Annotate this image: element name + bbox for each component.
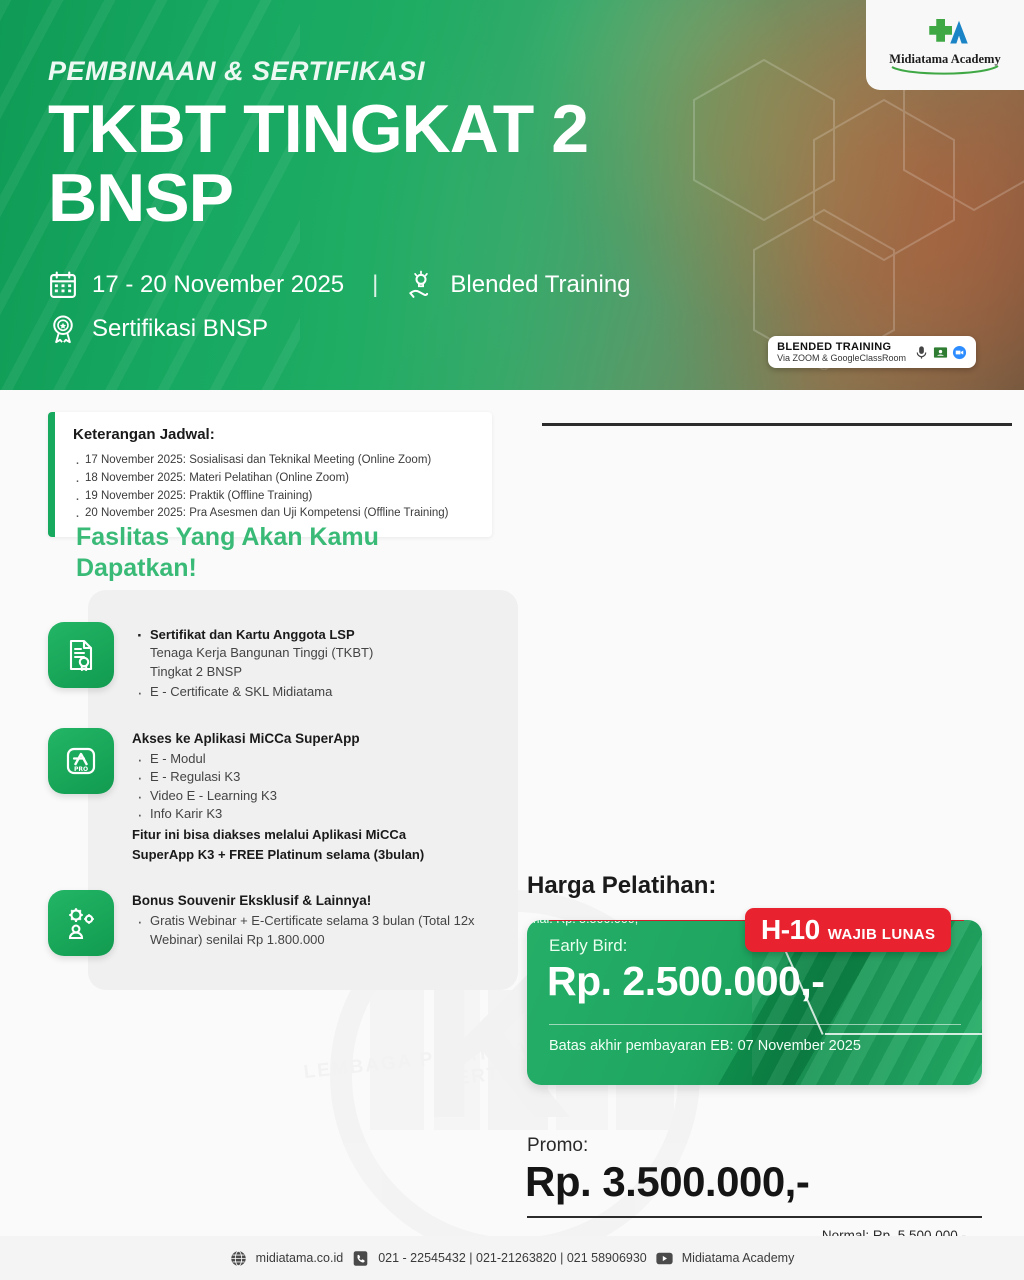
microphone-icon — [914, 345, 929, 360]
promo-label: Promo: — [527, 1135, 588, 1157]
phone-icon — [352, 1250, 369, 1267]
facility-body: Sertifikat dan Kartu Anggota LSP Tenaga … — [132, 622, 518, 702]
facility-title: Akses ke Aplikasi MiCCa SuperApp — [132, 730, 518, 748]
facility-title: Bonus Souvenir Eksklusif & Lainnya! — [132, 892, 518, 910]
badge-platform-icons — [914, 345, 967, 360]
badge-label: WAJIB LUNAS — [828, 926, 936, 943]
schedule-list: 17 November 2025: Sosialisasi dan Teknik… — [73, 452, 476, 523]
badge-countdown: H-10 — [761, 914, 820, 946]
hero-content: PEMBINAAN & SERTIFIKASI TKBT TINGKAT 2 B… — [48, 56, 631, 358]
facilities-list: Sertifikat dan Kartu Anggota LSP Tenaga … — [48, 622, 518, 982]
list-item: E - Regulasi K3 — [132, 768, 518, 786]
main-content: K LEMBAGA PELATIHAN KERJA (LPK) & SERTIF… — [0, 390, 1024, 1280]
certificate-glyph-icon — [63, 637, 99, 673]
facility-item-certificate: Sertifikat dan Kartu Anggota LSP Tenaga … — [48, 622, 518, 702]
list-item: 19 November 2025: Praktik (Offline Train… — [73, 488, 476, 506]
facilities-heading: Faslitas Yang Akan Kamu Dapatkan! — [76, 522, 466, 585]
list-item: 18 November 2025: Materi Pelatihan (Onli… — [73, 470, 476, 488]
schedule-box: Keterangan Jadwal: 17 November 2025: Sos… — [48, 412, 492, 537]
certificate-medal-icon — [48, 314, 78, 344]
divider-top-right — [542, 423, 1012, 426]
badge-sub-text: Via ZOOM & GoogleClassRoom — [777, 353, 906, 363]
hero-date-row: 17 - 20 November 2025 | Blended Training — [48, 270, 631, 300]
early-bird-deadline: Batas akhir pembayaran EB: 07 November 2… — [549, 1038, 861, 1054]
midiatama-logo-icon — [917, 15, 973, 51]
facility-item-app: PRO Akses ke Aplikasi MiCCa SuperApp E -… — [48, 728, 518, 864]
pricing-heading: Harga Pelatihan: — [527, 872, 716, 900]
promo-divider — [527, 1216, 982, 1218]
list-item: 20 November 2025: Pra Asesmen dan Uji Ko… — [73, 505, 476, 523]
hero-cert-row: Sertifikasi BNSP — [48, 314, 631, 344]
early-bird-label: Early Bird: — [549, 936, 627, 956]
certificate-icon — [48, 622, 114, 688]
list-item: Sertifikat dan Kartu Anggota LSP — [132, 626, 518, 644]
app-pro-glyph-icon: PRO — [63, 743, 99, 779]
facility-bullets: Sertifikat dan Kartu Anggota LSP — [132, 626, 518, 644]
schedule-heading: Keterangan Jadwal: — [73, 426, 476, 443]
footer-phones[interactable]: 021 - 22545432 | 021-21263820 | 021 5890… — [378, 1251, 647, 1265]
zoom-icon — [952, 345, 967, 360]
blended-training-badge: BLENDED TRAINING Via ZOOM & GoogleClassR… — [768, 336, 976, 368]
card-accent-line-b — [825, 1033, 982, 1035]
list-item: 17 November 2025: Sosialisasi dan Teknik… — [73, 452, 476, 470]
footer-website[interactable]: midiatama.co.id — [256, 1251, 344, 1265]
facility-note-2: SuperApp K3 + FREE Platinum selama (3bul… — [132, 846, 518, 864]
title-line-1: TKBT TINGKAT 2 — [48, 91, 588, 167]
youtube-icon — [656, 1250, 673, 1267]
brand-logo: Midiatama Academy — [866, 0, 1024, 90]
card-divider — [549, 1024, 961, 1025]
list-item: E - Modul — [132, 750, 518, 768]
facility-note-1: Fitur ini bisa diakses melalui Aplikasi … — [132, 826, 518, 844]
hero-meta-separator: | — [372, 271, 378, 299]
promo-price: Rp. 3.500.000,- — [525, 1158, 809, 1206]
app-pro-icon: PRO — [48, 728, 114, 794]
list-item: Video E - Learning K3 — [132, 787, 518, 805]
status-badge: H-10 WAJIB LUNAS — [745, 908, 951, 952]
facility-body: Bonus Souvenir Eksklusif & Lainnya! Grat… — [132, 890, 518, 956]
facility-subtitle-2: Tingkat 2 BNSP — [132, 663, 518, 681]
facility-bullets: Gratis Webinar + E-Certificate selama 3 … — [132, 912, 518, 949]
calendar-icon — [48, 270, 78, 300]
page-title: TKBT TINGKAT 2 BNSP — [48, 95, 631, 234]
hero-date: 17 - 20 November 2025 — [92, 271, 344, 299]
hero-banner: PEMBINAAN & SERTIFIKASI TKBT TINGKAT 2 B… — [0, 0, 1024, 390]
hero-mode: Blended Training — [450, 271, 630, 299]
logo-swoosh-icon — [890, 65, 1000, 75]
list-item: E - Certificate & SKL Midiatama — [132, 683, 518, 701]
footer-bar: midiatama.co.id 021 - 22545432 | 021-212… — [0, 1236, 1024, 1280]
hero-meta: 17 - 20 November 2025 | Blended Training — [48, 270, 631, 344]
svg-text:PRO: PRO — [74, 766, 88, 773]
gear-user-glyph-icon — [63, 905, 99, 941]
facility-subtitle-1: Tenaga Kerja Bangunan Tinggi (TKBT) — [132, 644, 518, 662]
list-item: Info Karir K3 — [132, 805, 518, 823]
facility-body: Akses ke Aplikasi MiCCa SuperApp E - Mod… — [132, 728, 518, 864]
training-hand-icon — [406, 270, 436, 300]
globe-icon — [230, 1250, 247, 1267]
footer-youtube[interactable]: Midiatama Academy — [682, 1251, 795, 1265]
facility-item-bonus: Bonus Souvenir Eksklusif & Lainnya! Grat… — [48, 890, 518, 956]
flyer-page: PEMBINAAN & SERTIFIKASI TKBT TINGKAT 2 B… — [0, 0, 1024, 1280]
title-line-2: BNSP — [48, 164, 631, 233]
hero-certification: Sertifikasi BNSP — [92, 315, 268, 343]
facility-bullets-extra: E - Certificate & SKL Midiatama — [132, 683, 518, 701]
hero-kicker: PEMBINAAN & SERTIFIKASI — [48, 56, 631, 87]
facility-bullets: E - Modul E - Regulasi K3 Video E - Lear… — [132, 750, 518, 824]
gear-user-icon — [48, 890, 114, 956]
early-bird-price: Rp. 2.500.000,- — [547, 958, 824, 1005]
list-item: Gratis Webinar + E-Certificate selama 3 … — [132, 912, 518, 949]
badge-main-text: BLENDED TRAINING — [777, 341, 906, 353]
google-classroom-icon — [933, 345, 948, 360]
